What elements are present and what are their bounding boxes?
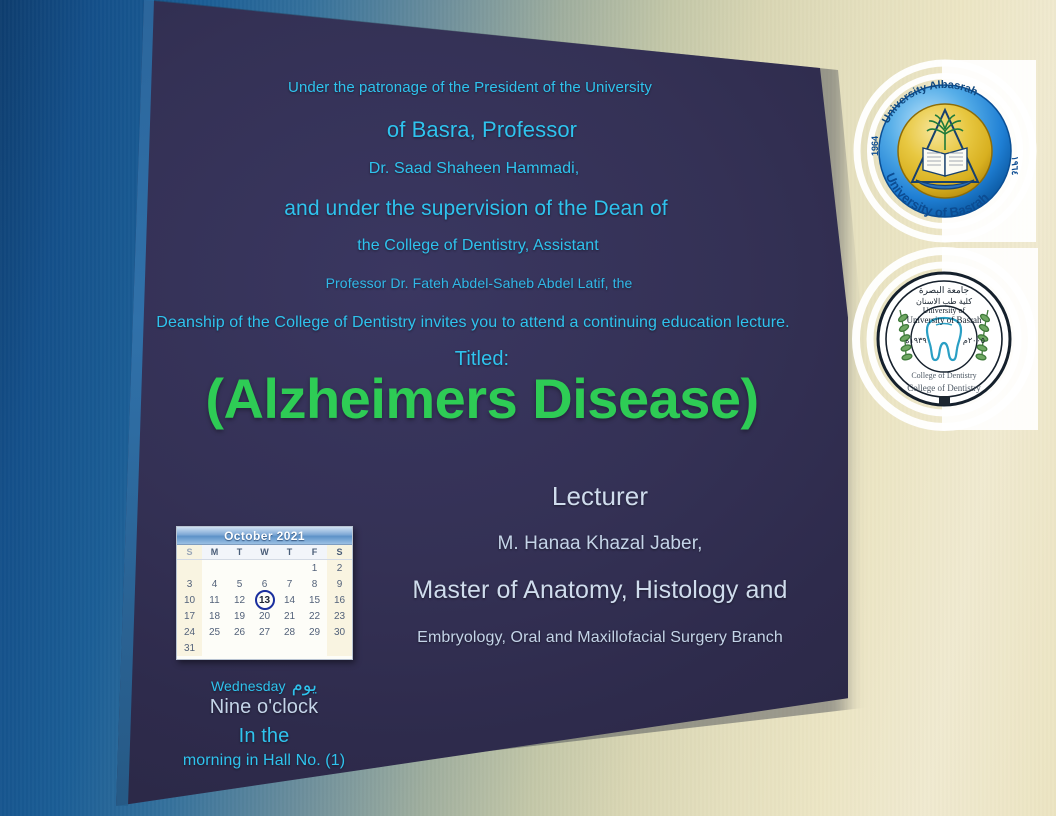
calendar-dow-6: S — [327, 545, 352, 559]
invitation-line-5: the College of Dentistry, Assistant — [0, 237, 956, 255]
lecturer-department: Embryology, Oral and Maxillofacial Surge… — [348, 629, 852, 647]
calendar-day-empty — [327, 640, 352, 656]
calendar-day-empty — [227, 560, 252, 576]
calendar-day-15[interactable]: 15 — [302, 592, 327, 608]
calendar-day-headers: SMTWTFS — [177, 545, 352, 560]
calendar-day-17[interactable]: 17 — [177, 608, 202, 624]
college-logo-year-hijri: ١٩٣٩ه — [905, 336, 926, 345]
college-logo-footer-1: College of Dentistry — [911, 371, 976, 380]
poster-canvas: Under the patronage of the President of … — [0, 0, 1056, 816]
lecturer-degree: Master of Anatomy, Histology and — [348, 576, 852, 605]
calendar-day-9[interactable]: 9 — [327, 576, 352, 592]
calendar-dow-2: T — [227, 545, 252, 559]
calendar-day-19[interactable]: 19 — [227, 608, 252, 624]
calendar-day-7[interactable]: 7 — [277, 576, 302, 592]
calendar-day-21[interactable]: 21 — [277, 608, 302, 624]
invitation-line-2: of Basra, Professor — [0, 117, 964, 143]
calendar-day-8[interactable]: 8 — [302, 576, 327, 592]
event-venue: morning in Hall No. (1) — [140, 752, 388, 770]
calendar-day-empty — [227, 640, 252, 656]
calendar-day-23[interactable]: 23 — [327, 608, 352, 624]
calendar-day-28[interactable]: 28 — [277, 624, 302, 640]
invitation-line-6: Professor Dr. Fateh Abdel-Saheb Abdel La… — [0, 275, 958, 291]
calendar-day-12[interactable]: 12 — [227, 592, 252, 608]
calendar-day-empty — [177, 560, 202, 576]
calendar-day-empty — [302, 640, 327, 656]
college-logo-en-1: University of — [923, 306, 966, 315]
event-weekday-row: Wednesdayيوم — [140, 675, 388, 696]
college-logo-en-2: University of Basrah — [907, 315, 982, 325]
college-logo-footer-2: College of Dentistry — [907, 383, 981, 393]
calendar-day-1[interactable]: 1 — [302, 560, 327, 576]
calendar-dow-5: F — [302, 545, 327, 559]
calendar-month-year: October 2021 — [177, 527, 352, 545]
university-of-basrah-logo: University Albasrah University of Basrah… — [852, 58, 1038, 244]
event-time-part2: In the — [140, 725, 388, 748]
calendar-day-3[interactable]: 3 — [177, 576, 202, 592]
lecturer-name: M. Hanaa Khazal Jaber, — [348, 533, 852, 555]
calendar-dow-0: S — [177, 545, 202, 559]
calendar-day-31[interactable]: 31 — [177, 640, 202, 656]
calendar-day-25[interactable]: 25 — [202, 624, 227, 640]
calendar-day-grid[interactable]: 1234567891011121314151617181920212223242… — [177, 560, 352, 656]
invitation-line-3: Dr. Saad Shaheen Hammadi, — [0, 160, 948, 178]
calendar-day-26[interactable]: 26 — [227, 624, 252, 640]
calendar-day-empty — [277, 560, 302, 576]
calendar-day-11[interactable]: 11 — [202, 592, 227, 608]
lecture-title: (Alzheimers Disease) — [0, 366, 964, 431]
calendar-day-13[interactable]: 13 — [252, 592, 277, 608]
college-logo-arabic-top: جامعة البصرة — [919, 285, 969, 296]
calendar-dow-3: W — [252, 545, 277, 559]
calendar-day-14[interactable]: 14 — [277, 592, 302, 608]
calendar-day-4[interactable]: 4 — [202, 576, 227, 592]
lecturer-role-label: Lecturer — [348, 481, 852, 512]
calendar-day-30[interactable]: 30 — [327, 624, 352, 640]
calendar-day-24[interactable]: 24 — [177, 624, 202, 640]
calendar-day-18[interactable]: 18 — [202, 608, 227, 624]
invitation-line-4: and under the supervision of the Dean of — [0, 197, 952, 221]
event-weekday: Wednesday — [211, 678, 286, 694]
calendar-day-10[interactable]: 10 — [177, 592, 202, 608]
university-logo-year-arabic: ١٩٦٤ — [1010, 156, 1020, 176]
calendar-day-20[interactable]: 20 — [252, 608, 277, 624]
college-logo-svg: جامعة البصرة كلية طب الاسنان University … — [850, 246, 1038, 432]
university-logo-year: 1964 — [870, 136, 880, 156]
invitation-line-7: Deanship of the College of Dentistry inv… — [0, 314, 946, 332]
university-logo-svg: University Albasrah University of Basrah… — [852, 58, 1038, 244]
calendar-day-16[interactable]: 16 — [327, 592, 352, 608]
calendar-dow-1: M — [202, 545, 227, 559]
calendar-day-29[interactable]: 29 — [302, 624, 327, 640]
calendar-dow-4: T — [277, 545, 302, 559]
college-logo-arabic-sub: كلية طب الاسنان — [916, 297, 972, 306]
event-time: Nine o'clock — [140, 696, 388, 719]
calendar-day-5[interactable]: 5 — [227, 576, 252, 592]
event-weekday-arabic: يوم — [292, 675, 317, 695]
college-of-dentistry-logo: جامعة البصرة كلية طب الاسنان University … — [850, 246, 1038, 432]
calendar-day-2[interactable]: 2 — [327, 560, 352, 576]
calendar-day-27[interactable]: 27 — [252, 624, 277, 640]
college-logo-mark — [939, 396, 950, 405]
calendar-day-empty — [252, 560, 277, 576]
calendar-widget[interactable]: October 2021 SMTWTFS 1234567891011121314… — [176, 526, 353, 660]
calendar-day-empty — [252, 640, 277, 656]
calendar-day-22[interactable]: 22 — [302, 608, 327, 624]
invitation-line-1: Under the patronage of the President of … — [0, 79, 940, 96]
college-logo-year-gregorian: ٢٠٠٥م — [963, 336, 985, 345]
calendar-day-empty — [277, 640, 302, 656]
calendar-day-empty — [202, 640, 227, 656]
calendar-day-empty — [202, 560, 227, 576]
